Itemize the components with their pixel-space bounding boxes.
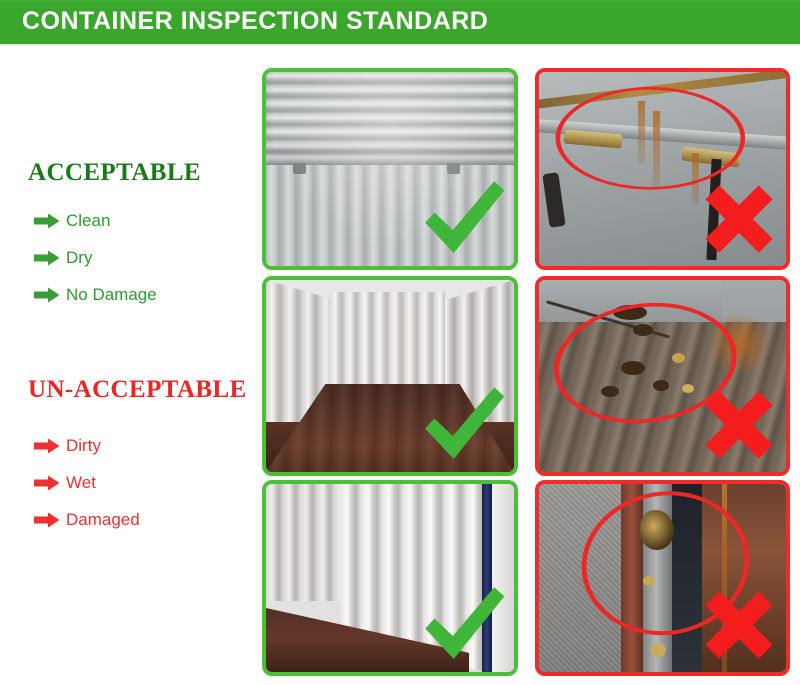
photo-unacceptable-3	[535, 480, 790, 676]
container-rust-damage-photo	[539, 72, 786, 266]
container-dirty-floor-photo	[539, 280, 786, 472]
container-interior-clean-photo	[266, 72, 514, 266]
header-banner: CONTAINER INSPECTION STANDARD	[0, 0, 800, 46]
acceptable-item-label: No Damage	[66, 285, 157, 305]
unacceptable-item-label: Dirty	[66, 436, 101, 456]
arrow-right-icon	[34, 213, 60, 229]
photo-unacceptable-2	[535, 276, 790, 476]
arrow-right-icon	[34, 287, 60, 303]
arrow-right-icon	[34, 438, 60, 454]
container-interior-dry-photo	[266, 280, 514, 472]
unacceptable-item-wet: Wet	[34, 472, 96, 494]
unacceptable-heading: UN-ACCEPTABLE	[28, 376, 247, 404]
arrow-right-icon	[34, 250, 60, 266]
photo-unacceptable-1	[535, 68, 790, 270]
acceptable-heading: ACCEPTABLE	[28, 159, 201, 187]
arrow-right-icon	[34, 475, 60, 491]
acceptable-item-label: Dry	[66, 248, 92, 268]
unacceptable-item-dirty: Dirty	[34, 435, 101, 457]
page-title: CONTAINER INSPECTION STANDARD	[22, 7, 488, 36]
photo-acceptable-1	[262, 68, 518, 270]
container-damaged-door-photo	[539, 484, 786, 672]
acceptable-item-no-damage: No Damage	[34, 284, 157, 306]
unacceptable-item-label: Wet	[66, 473, 96, 493]
legend-panel: ACCEPTABLE Clean Dry No Damage UN-ACCEPT…	[0, 46, 258, 685]
acceptable-item-clean: Clean	[34, 210, 110, 232]
acceptable-item-dry: Dry	[34, 247, 92, 269]
unacceptable-item-label: Damaged	[66, 510, 140, 530]
photo-acceptable-2	[262, 276, 518, 476]
arrow-right-icon	[34, 512, 60, 528]
container-interior-undamaged-photo	[266, 484, 514, 672]
photo-acceptable-3	[262, 480, 518, 676]
inspection-photo-grid	[262, 68, 790, 678]
acceptable-item-label: Clean	[66, 211, 110, 231]
unacceptable-item-damaged: Damaged	[34, 509, 140, 531]
